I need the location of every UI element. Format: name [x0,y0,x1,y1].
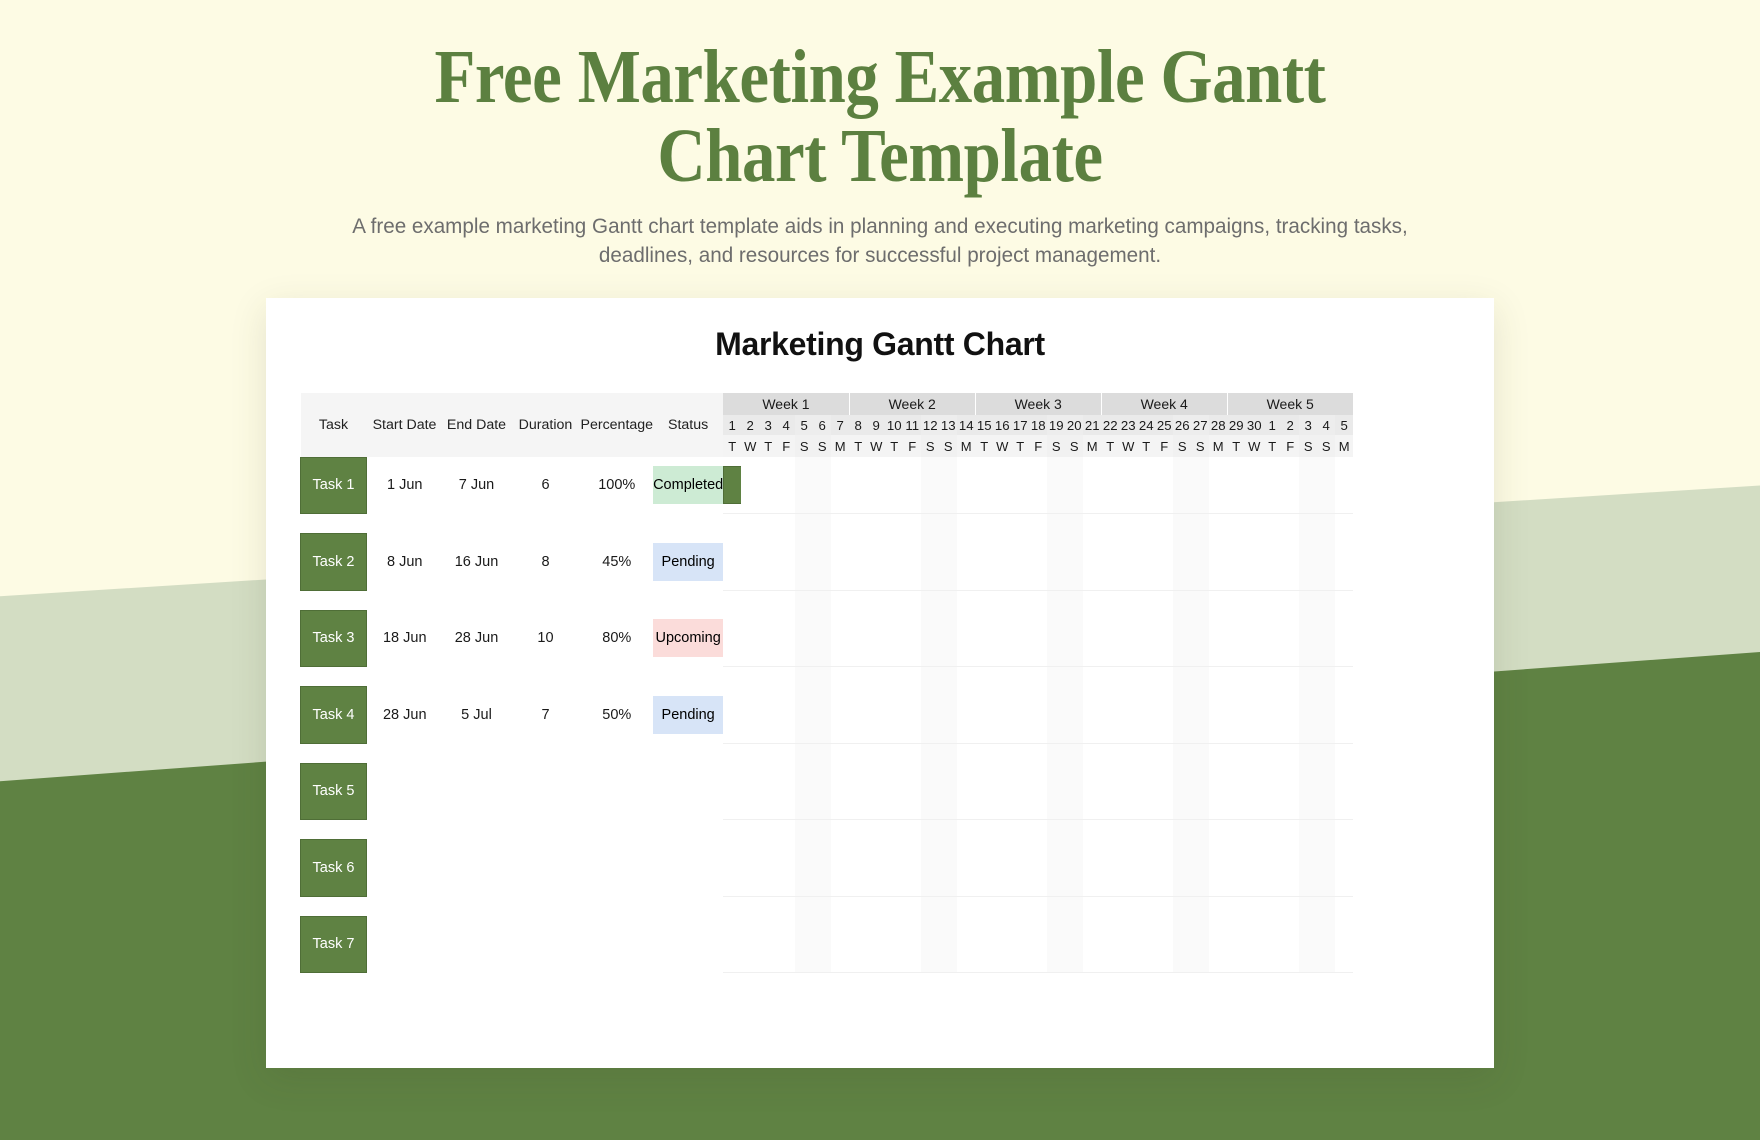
timeline-cell[interactable] [849,534,867,591]
task-percentage[interactable]: 80% [581,610,654,667]
timeline-cell[interactable] [903,763,921,820]
timeline-cell[interactable] [1101,610,1119,667]
timeline-cell[interactable] [795,457,813,514]
week-header: Week 4 [1101,393,1227,415]
timeline-cell[interactable] [1011,610,1029,667]
status-badge[interactable] [653,916,723,973]
timeline-cell[interactable] [1317,840,1335,897]
timeline-cell[interactable] [1047,916,1065,973]
timeline-cell[interactable] [1263,916,1281,973]
timeline-cell[interactable] [1101,763,1119,820]
timeline-cell[interactable] [1281,457,1299,514]
timeline-cell[interactable] [849,763,867,820]
timeline-cell[interactable] [1173,916,1191,973]
timeline-cell[interactable] [741,916,759,973]
timeline-cell[interactable] [1155,457,1173,514]
timeline-cell[interactable] [1065,687,1083,744]
timeline-cell[interactable] [759,687,777,744]
table-row[interactable]: Task 318 Jun28 Jun1080%Upcoming [301,610,1354,667]
table-row[interactable]: Task 11 Jun7 Jun6100%Completed [301,457,1354,514]
timeline-cell[interactable] [1029,610,1047,667]
timeline-cell[interactable] [1227,610,1245,667]
timeline-cell[interactable] [1119,763,1137,820]
timeline-cell[interactable] [777,763,795,820]
task-start-date[interactable]: 8 Jun [367,534,443,591]
timeline-cell[interactable] [1263,763,1281,820]
timeline-cell[interactable] [741,610,759,667]
timeline-cell[interactable] [885,687,903,744]
timeline-cell-spacer [1119,820,1137,840]
timeline-cell[interactable] [1335,610,1353,667]
timeline-cell[interactable] [993,916,1011,973]
timeline-cell[interactable] [723,610,741,667]
timeline-cell[interactable] [1047,534,1065,591]
timeline-cell[interactable] [1119,916,1137,973]
task-end-date[interactable]: 28 Jun [443,610,511,667]
timeline-cell[interactable] [1029,916,1047,973]
timeline-cell[interactable] [831,534,849,591]
timeline-cell[interactable] [1245,763,1263,820]
task-label[interactable]: Task 3 [301,610,367,667]
timeline-cell[interactable] [1281,534,1299,591]
timeline-cell[interactable] [1119,687,1137,744]
timeline-cell[interactable] [1209,457,1227,514]
timeline-cell[interactable] [1065,763,1083,820]
timeline-cell[interactable] [867,687,885,744]
table-row[interactable]: Task 5 [301,763,1354,820]
task-label[interactable]: Task 4 [301,687,367,744]
task-percentage[interactable]: 100% [581,457,654,514]
timeline-cell[interactable] [993,457,1011,514]
table-row[interactable]: Task 6 [301,840,1354,897]
status-badge[interactable]: Pending [653,687,723,744]
timeline-cell[interactable] [957,457,975,514]
timeline-cell[interactable] [975,610,993,667]
task-percentage[interactable] [581,763,654,820]
timeline-cell[interactable] [939,457,957,514]
timeline-cell[interactable] [1191,687,1209,744]
timeline-cell[interactable] [1029,534,1047,591]
timeline-cell[interactable] [741,840,759,897]
timeline-cell[interactable] [795,916,813,973]
status-badge[interactable] [653,763,723,820]
timeline-cell[interactable] [867,916,885,973]
timeline-cell[interactable] [903,687,921,744]
timeline-cell[interactable] [1155,763,1173,820]
timeline-cell[interactable] [1299,457,1317,514]
timeline-cell[interactable] [1335,457,1353,514]
timeline-cell[interactable] [1155,840,1173,897]
timeline-cell[interactable] [1281,840,1299,897]
timeline-cell[interactable] [777,457,795,514]
timeline-cell[interactable] [1083,763,1101,820]
timeline-cell[interactable] [777,610,795,667]
timeline-cell[interactable] [777,840,795,897]
timeline-cell[interactable] [1173,840,1191,897]
timeline-cell[interactable] [759,457,777,514]
timeline-cell[interactable] [1281,687,1299,744]
timeline-cell[interactable] [1245,916,1263,973]
timeline-cell[interactable] [939,534,957,591]
task-end-date[interactable] [443,763,511,820]
timeline-cell[interactable] [831,840,849,897]
timeline-cell[interactable] [1065,610,1083,667]
timeline-cell[interactable] [1227,534,1245,591]
task-label[interactable]: Task 2 [301,534,367,591]
timeline-cell[interactable] [921,687,939,744]
timeline-cell[interactable] [849,610,867,667]
task-percentage[interactable] [581,840,654,897]
timeline-cell[interactable] [1047,840,1065,897]
timeline-cell[interactable] [1137,763,1155,820]
timeline-cell[interactable] [885,457,903,514]
timeline-cell[interactable] [795,840,813,897]
task-duration[interactable]: 10 [511,610,581,667]
task-end-date[interactable]: 7 Jun [443,457,511,514]
timeline-cell[interactable] [1245,534,1263,591]
timeline-cell[interactable] [957,687,975,744]
timeline-cell[interactable] [813,534,831,591]
timeline-cell[interactable] [1335,763,1353,820]
timeline-cell[interactable] [1209,840,1227,897]
timeline-cell[interactable] [1227,840,1245,897]
task-label[interactable]: Task 1 [301,457,367,514]
timeline-cell[interactable] [723,534,741,591]
task-start-date[interactable] [367,916,443,973]
timeline-cell[interactable] [1335,534,1353,591]
timeline-cell[interactable] [1047,763,1065,820]
timeline-cell[interactable] [759,610,777,667]
timeline-cell[interactable] [723,916,741,973]
timeline-cell[interactable] [1299,840,1317,897]
timeline-cell-spacer [1155,820,1173,840]
timeline-cell[interactable] [759,840,777,897]
timeline-cell[interactable] [1335,840,1353,897]
timeline-cell[interactable] [1281,916,1299,973]
timeline-cell[interactable] [885,840,903,897]
timeline-cell[interactable] [1101,687,1119,744]
timeline-cell[interactable] [741,457,759,514]
timeline-cell[interactable] [993,763,1011,820]
timeline-cell[interactable] [1209,763,1227,820]
timeline-cell[interactable] [1011,687,1029,744]
timeline-cell[interactable] [741,763,759,820]
timeline-cell[interactable] [1209,610,1227,667]
timeline-cell[interactable] [1101,916,1119,973]
timeline-cell[interactable] [1335,687,1353,744]
task-start-date[interactable]: 1 Jun [367,457,443,514]
timeline-cell[interactable] [795,534,813,591]
timeline-cell[interactable] [975,763,993,820]
timeline-cell[interactable] [1083,534,1101,591]
status-badge[interactable]: Upcoming [653,610,723,667]
timeline-cell[interactable] [993,687,1011,744]
timeline-cell[interactable] [1011,457,1029,514]
timeline-cell[interactable] [1299,763,1317,820]
timeline-cell[interactable] [831,916,849,973]
timeline-cell[interactable] [813,840,831,897]
timeline-cell[interactable] [831,687,849,744]
task-percentage[interactable]: 45% [581,534,654,591]
timeline-cell[interactable] [993,534,1011,591]
timeline-cell[interactable] [1047,610,1065,667]
timeline-cell[interactable] [1173,687,1191,744]
task-label[interactable]: Task 7 [301,916,367,973]
timeline-cell[interactable] [795,763,813,820]
timeline-cell[interactable] [1065,916,1083,973]
timeline-cell[interactable] [1029,763,1047,820]
timeline-cell[interactable] [1191,840,1209,897]
timeline-cell[interactable] [1029,687,1047,744]
timeline-cell[interactable] [1137,916,1155,973]
timeline-cell[interactable] [1173,457,1191,514]
timeline-cell[interactable] [867,763,885,820]
timeline-cell[interactable] [1119,610,1137,667]
status-badge[interactable] [653,840,723,897]
timeline-cell[interactable] [939,610,957,667]
timeline-cell[interactable] [1281,610,1299,667]
timeline-cell[interactable] [1119,840,1137,897]
timeline-cell[interactable] [993,840,1011,897]
timeline-cell[interactable] [1083,840,1101,897]
timeline-cell[interactable] [1047,457,1065,514]
timeline-cell[interactable] [957,763,975,820]
timeline-cell[interactable] [939,840,957,897]
timeline-cell[interactable] [759,534,777,591]
timeline-cell[interactable] [1065,840,1083,897]
timeline-cell[interactable] [939,916,957,973]
timeline-cell[interactable] [795,610,813,667]
timeline-cell[interactable] [741,687,759,744]
task-start-date[interactable] [367,840,443,897]
timeline-cell[interactable] [741,534,759,591]
timeline-cell[interactable] [885,610,903,667]
timeline-cell[interactable] [1191,457,1209,514]
timeline-cell[interactable] [885,534,903,591]
timeline-cell[interactable] [1191,763,1209,820]
timeline-cell[interactable] [723,457,741,514]
timeline-cell[interactable] [813,610,831,667]
timeline-cell[interactable] [1065,457,1083,514]
timeline-cell[interactable] [939,687,957,744]
timeline-cell[interactable] [957,610,975,667]
timeline-cell[interactable] [849,687,867,744]
timeline-cell[interactable] [1083,916,1101,973]
timeline-cell[interactable] [1137,457,1155,514]
timeline-cell[interactable] [1299,916,1317,973]
table-row[interactable]: Task 28 Jun16 Jun845%Pending [301,534,1354,591]
task-duration[interactable] [511,916,581,973]
timeline-cell[interactable] [1173,534,1191,591]
timeline-cell[interactable] [1335,916,1353,973]
timeline-cell[interactable] [921,840,939,897]
timeline-cell[interactable] [867,534,885,591]
timeline-cell[interactable] [1155,687,1173,744]
timeline-cell[interactable] [885,916,903,973]
timeline-cell[interactable] [813,763,831,820]
timeline-cell[interactable] [1227,457,1245,514]
timeline-cell[interactable] [1317,610,1335,667]
timeline-cell[interactable] [723,687,741,744]
status-badge[interactable]: Pending [653,534,723,591]
timeline-cell[interactable] [1317,763,1335,820]
timeline-cell[interactable] [903,610,921,667]
timeline-cell[interactable] [1227,763,1245,820]
task-duration[interactable] [511,763,581,820]
timeline-cell[interactable] [1227,687,1245,744]
task-duration[interactable] [511,840,581,897]
timeline-cell[interactable] [921,457,939,514]
timeline-cell[interactable] [1137,610,1155,667]
timeline-cell[interactable] [1083,687,1101,744]
timeline-cell[interactable] [1317,687,1335,744]
table-row[interactable]: Task 7 [301,916,1354,973]
timeline-cell[interactable] [957,534,975,591]
timeline-cell[interactable] [1011,916,1029,973]
timeline-cell[interactable] [1119,457,1137,514]
timeline-cell[interactable] [921,534,939,591]
timeline-cell[interactable] [1155,610,1173,667]
timeline-cell[interactable] [813,916,831,973]
timeline-cell[interactable] [1173,763,1191,820]
timeline-cell[interactable] [1191,916,1209,973]
timeline-cell[interactable] [849,840,867,897]
timeline-cell[interactable] [777,687,795,744]
timeline-cell[interactable] [777,534,795,591]
timeline-cell[interactable] [1299,534,1317,591]
timeline-cell[interactable] [1209,534,1227,591]
timeline-cell[interactable] [867,457,885,514]
timeline-cell[interactable] [921,916,939,973]
timeline-cell[interactable] [1281,763,1299,820]
timeline-cell[interactable] [975,840,993,897]
timeline-cell[interactable] [1065,534,1083,591]
timeline-cell[interactable] [903,916,921,973]
timeline-cell[interactable] [903,840,921,897]
timeline-cell[interactable] [795,687,813,744]
timeline-cell[interactable] [993,610,1011,667]
timeline-cell[interactable] [759,763,777,820]
task-percentage[interactable]: 50% [581,687,654,744]
task-end-date[interactable] [443,916,511,973]
timeline-cell-spacer [1173,820,1191,840]
timeline-cell[interactable] [1299,687,1317,744]
timeline-cell[interactable] [1191,610,1209,667]
timeline-cell[interactable] [1263,534,1281,591]
task-start-date[interactable]: 28 Jun [367,687,443,744]
task-end-date[interactable] [443,840,511,897]
timeline-cell[interactable] [957,840,975,897]
timeline-cell[interactable] [723,763,741,820]
timeline-cell[interactable] [849,916,867,973]
timeline-cell[interactable] [921,763,939,820]
timeline-cell[interactable] [1119,534,1137,591]
timeline-cell[interactable] [1317,916,1335,973]
timeline-cell[interactable] [1011,840,1029,897]
timeline-cell[interactable] [831,610,849,667]
timeline-cell[interactable] [1029,840,1047,897]
task-label[interactable]: Task 6 [301,840,367,897]
timeline-cell[interactable] [723,840,741,897]
task-duration[interactable]: 7 [511,687,581,744]
timeline-cell[interactable] [1137,840,1155,897]
timeline-cell[interactable] [867,840,885,897]
task-end-date[interactable]: 16 Jun [443,534,511,591]
timeline-cell[interactable] [921,610,939,667]
timeline-cell[interactable] [1029,457,1047,514]
timeline-cell[interactable] [1263,610,1281,667]
timeline-cell[interactable] [939,763,957,820]
timeline-cell[interactable] [957,916,975,973]
timeline-cell[interactable] [1245,457,1263,514]
timeline-cell[interactable] [975,457,993,514]
timeline-cell[interactable] [1173,610,1191,667]
task-end-date[interactable]: 5 Jul [443,687,511,744]
timeline-cell[interactable] [759,916,777,973]
timeline-cell[interactable] [867,610,885,667]
timeline-cell[interactable] [1227,916,1245,973]
timeline-cell[interactable] [1083,610,1101,667]
timeline-cell[interactable] [1137,534,1155,591]
timeline-cell[interactable] [1245,840,1263,897]
timeline-cell[interactable] [1011,763,1029,820]
timeline-cell[interactable] [975,687,993,744]
table-row[interactable]: Task 428 Jun5 Jul750%Pending [301,687,1354,744]
timeline-cell[interactable] [903,534,921,591]
timeline-cell[interactable] [1317,457,1335,514]
timeline-cell[interactable] [1317,534,1335,591]
timeline-cell-spacer [759,667,777,687]
timeline-cell[interactable] [1101,534,1119,591]
timeline-cell[interactable] [813,457,831,514]
task-label[interactable]: Task 5 [301,763,367,820]
timeline-cell[interactable] [1263,687,1281,744]
timeline-cell[interactable] [1299,610,1317,667]
timeline-cell[interactable] [1155,534,1173,591]
task-start-date[interactable]: 18 Jun [367,610,443,667]
timeline-cell[interactable] [975,916,993,973]
timeline-cell[interactable] [885,763,903,820]
status-badge[interactable]: Completed [653,457,723,514]
timeline-cell[interactable] [1011,534,1029,591]
timeline-cell[interactable] [849,457,867,514]
timeline-cell[interactable] [1263,457,1281,514]
timeline-cell[interactable] [1047,687,1065,744]
timeline-cell[interactable] [1245,687,1263,744]
timeline-cell[interactable] [1209,687,1227,744]
timeline-cell[interactable] [813,687,831,744]
timeline-cell[interactable] [1101,457,1119,514]
timeline-cell[interactable] [1155,916,1173,973]
timeline-cell[interactable] [975,534,993,591]
timeline-cell[interactable] [1191,534,1209,591]
timeline-cell[interactable] [1137,687,1155,744]
timeline-cell[interactable] [903,457,921,514]
task-percentage[interactable] [581,916,654,973]
task-duration[interactable]: 8 [511,534,581,591]
timeline-cell[interactable] [831,763,849,820]
task-start-date[interactable] [367,763,443,820]
timeline-cell[interactable] [1101,840,1119,897]
timeline-cell[interactable] [1263,840,1281,897]
timeline-cell[interactable] [777,916,795,973]
timeline-cell-spacer [993,896,1011,916]
timeline-cell[interactable] [1245,610,1263,667]
timeline-cell[interactable] [831,457,849,514]
timeline-cell[interactable] [1083,457,1101,514]
timeline-cell[interactable] [1209,916,1227,973]
task-duration[interactable]: 6 [511,457,581,514]
